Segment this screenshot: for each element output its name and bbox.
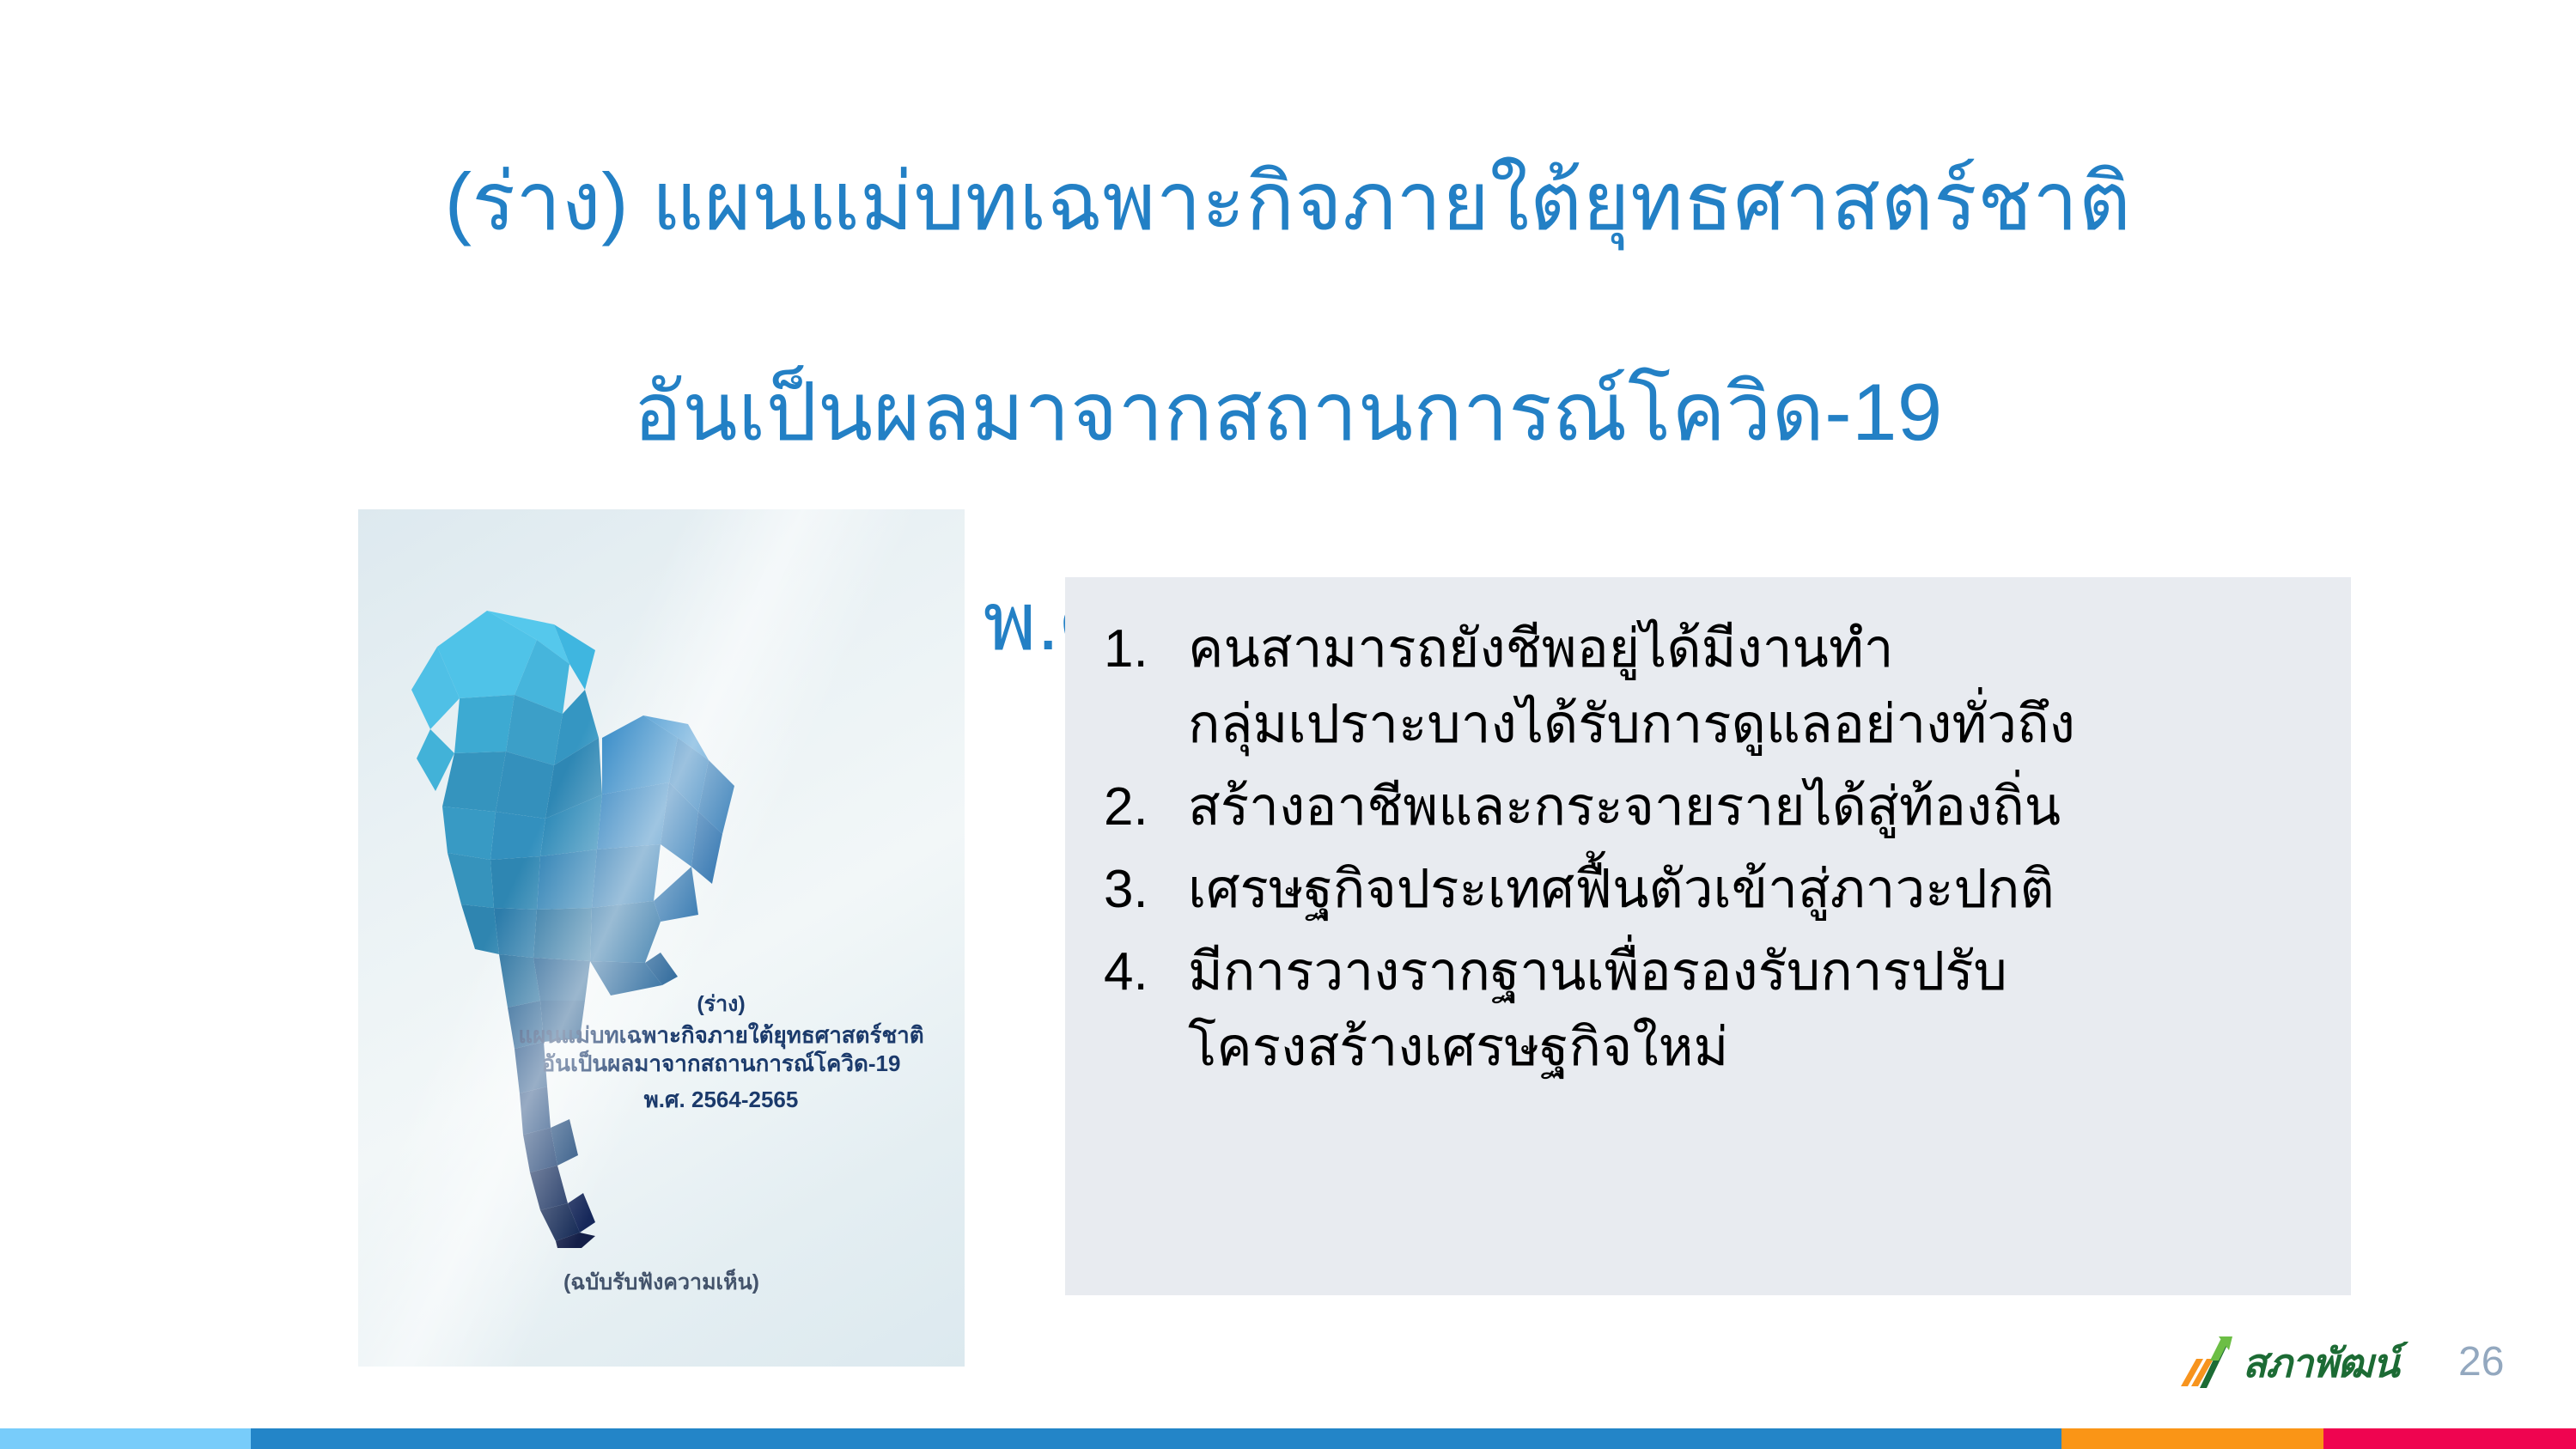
cover-title-line-2: อันเป็นผลมาจากสถานการณ์โควิด-19 xyxy=(487,1050,955,1078)
list-item-number: 1. xyxy=(1104,612,1188,687)
bar-segment-blue xyxy=(251,1428,2061,1449)
list-item-number: 3. xyxy=(1104,852,1188,928)
bar-segment-crimson xyxy=(2323,1428,2576,1449)
thailand-lowpoly-map-icon xyxy=(386,561,746,1248)
cover-years: พ.ศ. 2564-2565 xyxy=(487,1086,955,1114)
list-item: 1. คนสามารถยังชีพอยู่ได้มีงานทำ กลุ่มเปร… xyxy=(1104,612,2323,763)
title-line-2: อันเป็นผลมาจากสถานการณ์โควิด-19 xyxy=(0,360,2576,465)
outcomes-panel: 1. คนสามารถยังชีพอยู่ได้มีงานทำ กลุ่มเปร… xyxy=(1065,577,2351,1295)
cover-draft-label: (ร่าง) xyxy=(487,990,955,1018)
list-item-text: เศรษฐกิจประเทศฟื้นตัวเข้าสู่ภาวะปกติ xyxy=(1188,852,2323,928)
list-item-number: 4. xyxy=(1104,935,1188,1010)
cover-footer-note: (ฉบับรับฟังความเห็น) xyxy=(358,1265,965,1300)
bar-segment-orange xyxy=(2061,1428,2323,1449)
cover-title-line-1: แผนแม่บทเฉพาะกิจภายใต้ยุทธศาสตร์ชาติ xyxy=(487,1021,955,1050)
list-item-text: สร้างอาชีพและกระจายรายได้สู่ท้องถิ่น xyxy=(1188,770,2323,845)
list-item: 4. มีการวางรากฐานเพื่อรองรับการปรับ โครง… xyxy=(1104,935,2323,1086)
bottom-color-bar xyxy=(0,1428,2576,1449)
list-item-text: คนสามารถยังชีพอยู่ได้มีงานทำ กลุ่มเปราะบ… xyxy=(1188,612,2323,763)
bar-segment-light-blue xyxy=(0,1428,251,1449)
list-item: 3. เศรษฐกิจประเทศฟื้นตัวเข้าสู่ภาวะปกติ xyxy=(1104,852,2323,928)
nesdc-arrow-icon xyxy=(2177,1335,2241,1391)
page-number: 26 xyxy=(2458,1338,2504,1385)
book-cover-image: (ร่าง) แผนแม่บทเฉพาะกิจภายใต้ยุทธศาสตร์ช… xyxy=(358,509,965,1367)
list-item-text: มีการวางรากฐานเพื่อรองรับการปรับ โครงสร้… xyxy=(1188,935,2323,1086)
title-line-1: (ร่าง) แผนแม่บทเฉพาะกิจภายใต้ยุทธศาสตร์ช… xyxy=(0,149,2576,254)
list-item: 2. สร้างอาชีพและกระจายรายได้สู่ท้องถิ่น xyxy=(1104,770,2323,845)
organization-logo: สภาพัฒน์ xyxy=(2177,1332,2427,1394)
list-item-number: 2. xyxy=(1104,770,1188,845)
book-cover-text: (ร่าง) แผนแม่บทเฉพาะกิจภายใต้ยุทธศาสตร์ช… xyxy=(487,990,955,1114)
logo-wordmark: สภาพัฒน์ xyxy=(2243,1343,2399,1383)
outcomes-list: 1. คนสามารถยังชีพอยู่ได้มีงานทำ กลุ่มเปร… xyxy=(1104,612,2323,1093)
